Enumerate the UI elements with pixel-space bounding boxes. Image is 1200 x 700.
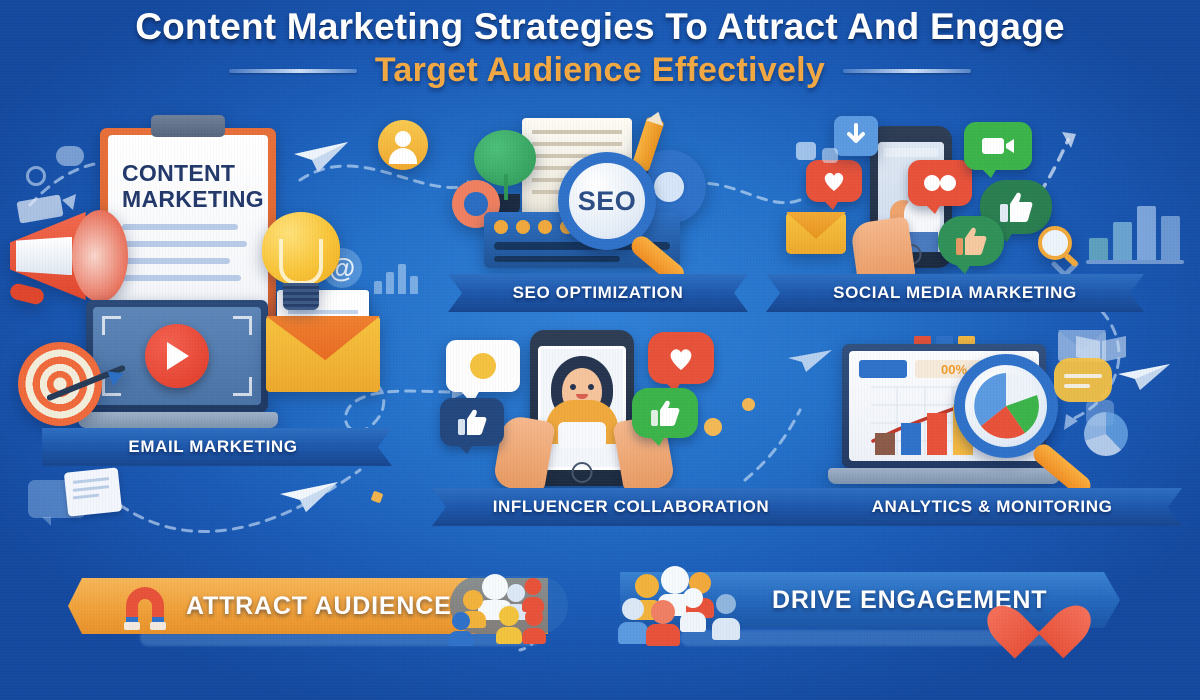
magnifier-icon	[1038, 226, 1072, 260]
thumbs-up-bubble	[938, 216, 1004, 266]
seo-badge-label: SEO	[578, 186, 637, 217]
like-decoration	[796, 142, 816, 160]
decorative-bar-chart	[1086, 196, 1184, 264]
person-icon	[496, 606, 522, 644]
rule-right	[843, 69, 971, 73]
ribbon-seo-optimization[interactable]: SEO OPTIMIZATION	[448, 274, 748, 312]
envelope-icon	[266, 316, 380, 392]
thumbs-up-bubble	[632, 388, 698, 438]
ribbon-label: SOCIAL MEDIA MARKETING	[833, 283, 1077, 303]
magnet-icon	[116, 586, 174, 628]
clipboard-rule	[122, 258, 230, 264]
header-block: Content Marketing Strategies To Attract …	[0, 6, 1200, 90]
target-icon	[18, 342, 102, 426]
person-icon	[522, 578, 544, 612]
paper-plane-icon	[278, 480, 340, 514]
envelope-icon	[786, 212, 846, 254]
dot-decoration	[704, 418, 722, 436]
ribbon-label: EMAIL MARKETING	[128, 437, 297, 457]
sparkle-decoration	[742, 398, 755, 411]
laptop-screen	[86, 300, 268, 412]
lightbulb-icon	[262, 212, 340, 310]
influencer-illustration	[436, 326, 726, 498]
clipboard-rule	[122, 275, 241, 281]
thumbs-up-bubble	[440, 398, 504, 446]
ribbon-email-marketing[interactable]: EMAIL MARKETING	[42, 428, 392, 466]
subtitle-row: Target Audience Effectively	[0, 51, 1200, 90]
person-icon	[646, 600, 680, 646]
ribbon-label: ANALYTICS & MONITORING	[872, 497, 1113, 517]
comment-bubble-icon	[446, 340, 520, 392]
person-icon	[712, 594, 740, 640]
document-pages-icon	[66, 470, 120, 514]
people-cluster-icon	[444, 572, 574, 646]
play-button-icon	[145, 324, 209, 388]
ribbon-influencer-collaboration[interactable]: INFLUENCER COLLABORATION	[432, 488, 830, 526]
ribbon-social-media-marketing[interactable]: SOCIAL MEDIA MARKETING	[766, 274, 1144, 312]
person-icon	[522, 608, 546, 644]
clipboard-line1: CONTENT	[122, 161, 254, 187]
page-title-line2: Target Audience Effectively	[375, 51, 825, 90]
social-media-illustration	[778, 108, 1088, 284]
seo-illustration: SEO	[440, 108, 720, 276]
clipboard-page: CONTENT MARKETING	[108, 135, 268, 327]
clipboard-rule	[122, 241, 247, 247]
seo-magnifier-icon: SEO	[558, 152, 656, 250]
user-avatar-icon	[378, 120, 428, 170]
reaction-bubble	[908, 160, 972, 206]
heart-reaction-bubble	[806, 160, 862, 202]
pie-chart-decoration	[1084, 412, 1128, 456]
pie-magnifier-icon	[954, 354, 1058, 458]
megaphone-icon	[10, 208, 132, 304]
person-icon	[680, 588, 706, 632]
ribbon-label: SEO OPTIMIZATION	[513, 283, 684, 303]
infographic-canvas: @ Content Marketing Strategies To Attrac…	[0, 0, 1200, 700]
content-marketing-illustration: CONTENT MARKETING	[0, 110, 400, 450]
laptop-base	[78, 412, 278, 428]
phone-screen	[538, 346, 626, 470]
clipboard-line2: MARKETING	[122, 187, 254, 213]
paper-plane-icon	[1116, 362, 1172, 392]
person-icon	[618, 598, 648, 644]
clipboard-clip-icon	[151, 115, 225, 137]
attract-audience-label: ATTRACT AUDIENCE	[186, 592, 452, 621]
ribbon-analytics-monitoring[interactable]: ANALYTICS & MONITORING	[802, 488, 1182, 526]
rule-left	[229, 69, 357, 73]
download-icon	[834, 116, 878, 156]
like-decoration	[822, 148, 838, 163]
analytics-illustration: 00%	[816, 336, 1116, 500]
heart-icon	[1004, 582, 1074, 644]
clipboard-rule	[122, 224, 238, 230]
ribbon-label: INFLUENCER COLLABORATION	[493, 497, 770, 517]
person-icon	[448, 612, 474, 646]
page-title-line1: Content Marketing Strategies To Attract …	[0, 6, 1200, 47]
speech-bubble-icon	[1054, 358, 1112, 402]
people-cluster-icon	[618, 566, 754, 646]
video-bubble	[964, 122, 1032, 170]
heart-reaction-bubble	[648, 332, 714, 384]
